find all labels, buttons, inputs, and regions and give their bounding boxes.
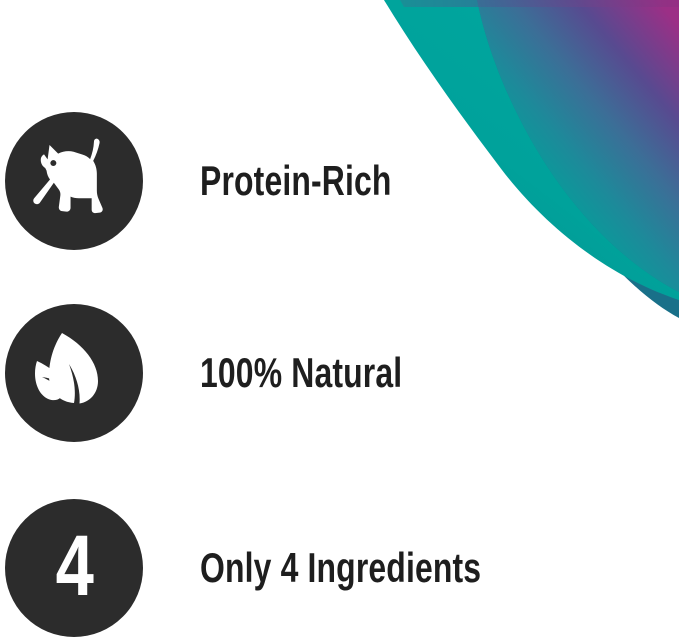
wave-top-edge-strip bbox=[400, 0, 679, 7]
feature-row: 100% Natural bbox=[0, 303, 679, 443]
cat-icon bbox=[26, 133, 122, 229]
leaf-icon bbox=[24, 323, 124, 423]
feature-label: Only 4 Ingredients bbox=[200, 547, 481, 589]
feature-row: Protein-Rich bbox=[0, 111, 679, 251]
feature-label: Protein-Rich bbox=[200, 160, 392, 202]
feature-row: 4 Only 4 Ingredients bbox=[0, 498, 679, 638]
feature-badge bbox=[5, 304, 143, 442]
promo-graphic: Protein-Rich 100% Natural 4 Only 4 Ingre… bbox=[0, 0, 679, 639]
number-four-icon: 4 bbox=[55, 523, 92, 609]
feature-badge: 4 bbox=[5, 499, 143, 637]
feature-label: 100% Natural bbox=[200, 352, 402, 394]
feature-badge bbox=[5, 112, 143, 250]
